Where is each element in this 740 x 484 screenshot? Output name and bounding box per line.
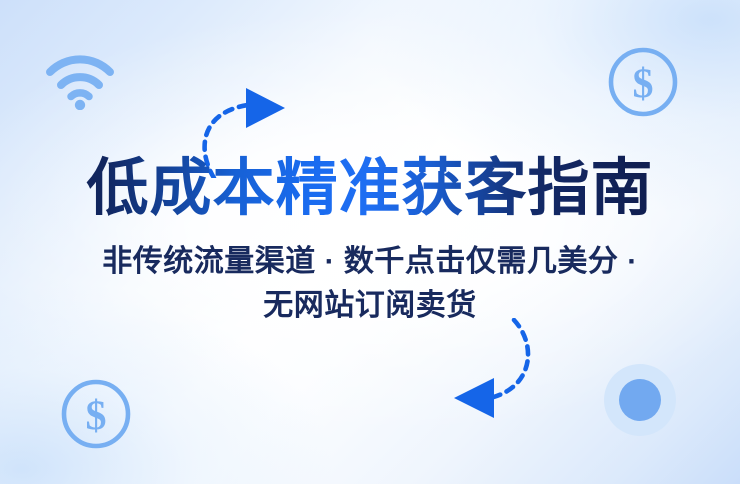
page-subtitle-line-1: 非传统流量渠道 · 数千点击仅需几美分 ·	[0, 240, 740, 284]
dot-circle-icon	[596, 356, 684, 444]
page-title: 低成本精准获客指南	[0, 152, 740, 226]
svg-text:$: $	[86, 394, 107, 440]
wifi-icon	[46, 48, 114, 110]
curved-arrow-left-icon	[442, 318, 558, 430]
page-subtitle: 非传统流量渠道 · 数千点击仅需几美分 · 无网站订阅卖货	[0, 240, 740, 328]
poster-canvas: $ $ 低成本精准获客指南 非传统流量渠道 · 数千点击仅需几美分 ·	[0, 0, 740, 484]
text-block: 低成本精准获客指南 非传统流量渠道 · 数千点击仅需几美分 · 无网站订阅卖货	[0, 152, 740, 328]
svg-text:$: $	[633, 62, 654, 108]
dollar-circle-icon-top-right: $	[605, 44, 681, 120]
dollar-circle-icon-bottom-left: $	[58, 376, 134, 452]
page-subtitle-line-2: 无网站订阅卖货	[0, 284, 740, 328]
